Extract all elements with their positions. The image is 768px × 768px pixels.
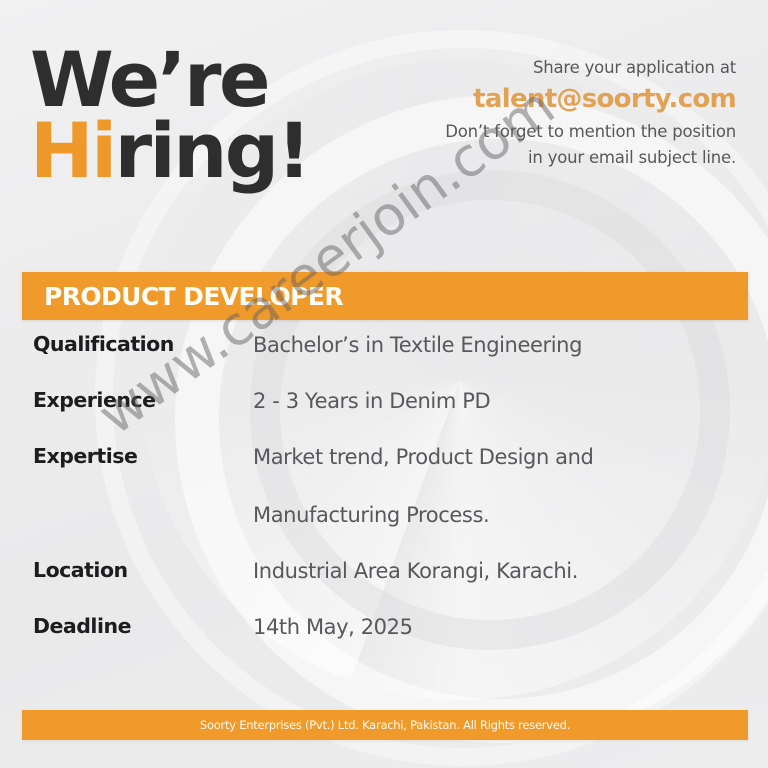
detail-label: Qualification — [33, 332, 253, 358]
position-title-bar: PRODUCT DEVELOPER — [22, 272, 748, 320]
hiring-headline: We’reHiring! — [30, 44, 309, 187]
headline-accent: Hi — [30, 106, 115, 195]
detail-value: 14th May, 2025 — [253, 614, 768, 640]
detail-value-line: Bachelor’s in Textile Engineering — [253, 332, 768, 358]
apply-note-line-1: Don’t forget to mention the position — [396, 119, 736, 145]
detail-row-qualification: Qualification Bachelor’s in Textile Engi… — [0, 332, 768, 358]
detail-row-location: Location Industrial Area Korangi, Karach… — [0, 558, 768, 584]
detail-value-line: Manufacturing Process. — [253, 502, 768, 528]
detail-label: Experience — [33, 388, 253, 414]
footer-copyright: Soorty Enterprises (Pvt.) Ltd. Karachi, … — [200, 718, 570, 732]
detail-value: Industrial Area Korangi, Karachi. — [253, 558, 768, 584]
detail-row-deadline: Deadline 14th May, 2025 — [0, 614, 768, 640]
poster-header: We’reHiring! Share your application at t… — [0, 0, 768, 260]
detail-value-line: Market trend, Product Design and — [253, 444, 768, 470]
position-title: PRODUCT DEVELOPER — [44, 282, 343, 311]
detail-label: Expertise — [33, 444, 253, 470]
apply-info: Share your application at talent@soorty.… — [396, 55, 736, 170]
headline-suffix: ring! — [115, 106, 309, 195]
detail-label: Deadline — [33, 614, 253, 640]
apply-email[interactable]: talent@soorty.com — [396, 83, 736, 116]
detail-row-experience: Experience 2 - 3 Years in Denim PD — [0, 388, 768, 414]
detail-value-line: 14th May, 2025 — [253, 614, 768, 640]
detail-value-line: Industrial Area Korangi, Karachi. — [253, 558, 768, 584]
headline-line-2: Hiring! — [30, 115, 309, 186]
detail-value: Market trend, Product Design and Manufac… — [253, 444, 768, 528]
footer-bar: Soorty Enterprises (Pvt.) Ltd. Karachi, … — [22, 710, 748, 740]
detail-value: Bachelor’s in Textile Engineering — [253, 332, 768, 358]
detail-label: Location — [33, 558, 253, 584]
apply-note-line-2: in your email subject line. — [396, 145, 736, 171]
apply-prompt: Share your application at — [396, 55, 736, 81]
job-poster: We’reHiring! Share your application at t… — [0, 0, 768, 768]
detail-value: 2 - 3 Years in Denim PD — [253, 388, 768, 414]
detail-row-expertise: Expertise Market trend, Product Design a… — [0, 444, 768, 528]
job-details-list: Qualification Bachelor’s in Textile Engi… — [0, 332, 768, 670]
detail-value-line: 2 - 3 Years in Denim PD — [253, 388, 768, 414]
